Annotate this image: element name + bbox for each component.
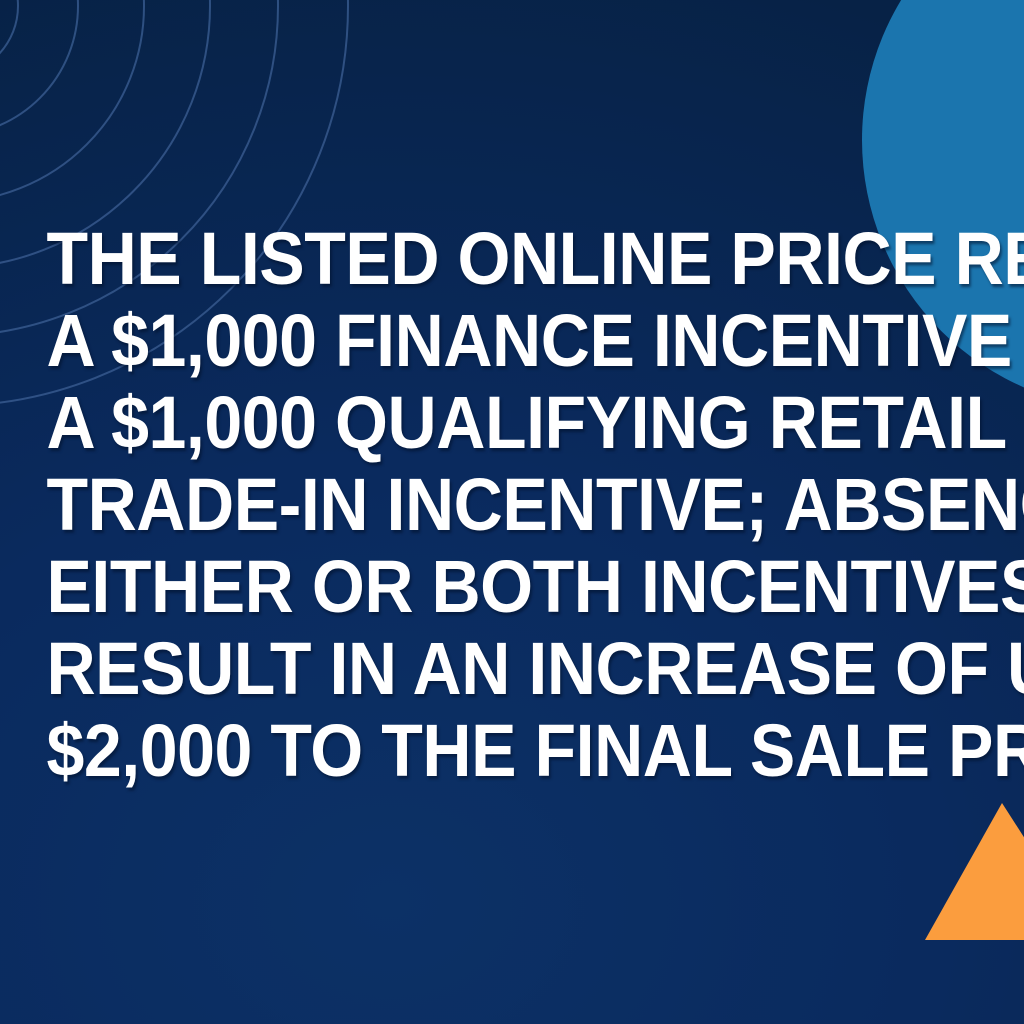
headline-line-5: EITHER OR BOTH INCENTIVES WILL — [46, 546, 977, 628]
headline-line-3: A $1,000 QUALIFYING RETAIL — [46, 382, 977, 464]
disclaimer-headline: THE LISTED ONLINE PRICE REFLECTS A $1,00… — [0, 218, 1024, 792]
promo-banner-canvas: THE LISTED ONLINE PRICE REFLECTS A $1,00… — [0, 0, 1024, 1024]
headline-line-6: RESULT IN AN INCREASE OF UP TO — [46, 628, 977, 710]
headline-line-1: THE LISTED ONLINE PRICE REFLECTS — [46, 218, 977, 300]
headline-line-4: TRADE-IN INCENTIVE; ABSENCE OF — [46, 464, 977, 546]
headline-line-7: $2,000 TO THE FINAL SALE PRICE. — [46, 710, 977, 792]
headline-line-2: A $1,000 FINANCE INCENTIVE AND — [46, 300, 977, 382]
